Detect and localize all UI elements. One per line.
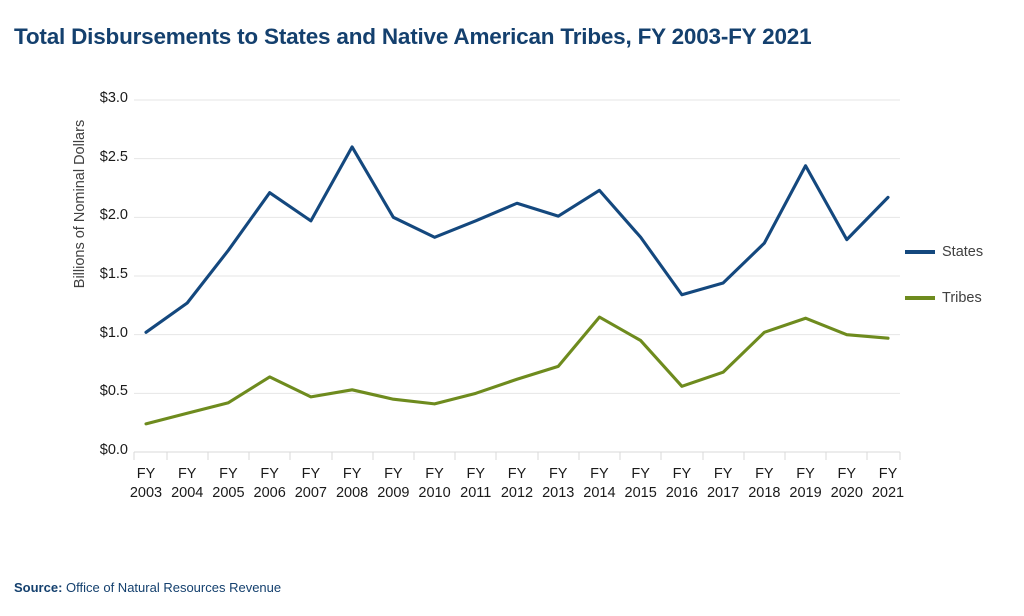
legend-swatch-icon (905, 250, 935, 254)
plot-area (0, 0, 1024, 616)
series-lines (146, 147, 888, 424)
legend-label: States (942, 244, 983, 260)
legend-entry-tribes[interactable]: Tribes (905, 286, 983, 310)
legend-entry-states[interactable]: States (905, 240, 983, 264)
series-line-tribes (146, 317, 888, 424)
gridlines (134, 100, 900, 452)
chart-page: Total Disbursements to States and Native… (0, 0, 1024, 616)
axis-tickmarks (134, 452, 900, 460)
series-line-states (146, 147, 888, 332)
legend-swatch-icon (905, 296, 935, 300)
source-label: Source: (14, 580, 62, 595)
chart-figure: Billions of Nominal Dollars $3.0$2.5$2.0… (0, 0, 1024, 616)
legend-label: Tribes (942, 290, 982, 306)
legend: StatesTribes (905, 240, 983, 332)
source-note: Source: Office of Natural Resources Reve… (14, 580, 281, 595)
source-text: Office of Natural Resources Revenue (62, 580, 281, 595)
